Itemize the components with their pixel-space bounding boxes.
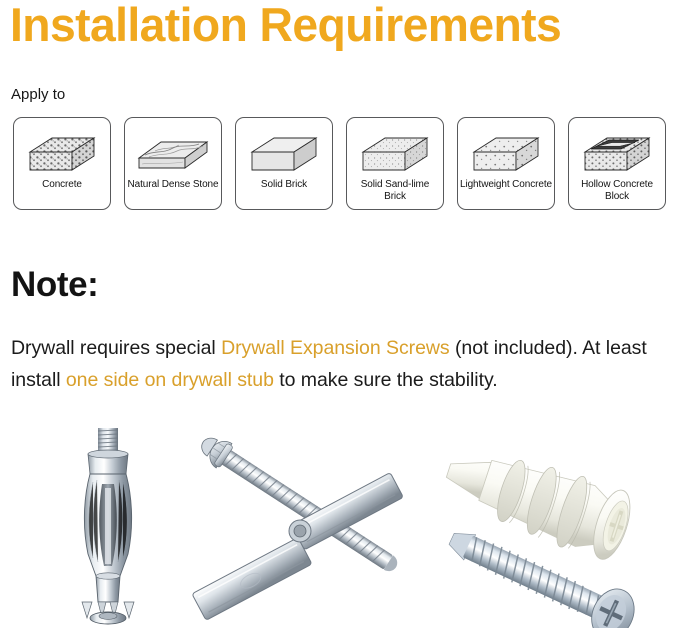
- flat-stone-slab-icon: [133, 126, 213, 178]
- smooth-block-icon: [244, 126, 324, 178]
- material-card-solid-brick: Solid Brick: [235, 117, 333, 210]
- apply-to-label: Apply to: [11, 86, 65, 103]
- note-body: Drywall requires special Drywall Expansi…: [11, 332, 669, 396]
- material-label: Concrete: [40, 178, 84, 191]
- material-card-solid-sand-lime-brick: Solid Sand-lime Brick: [346, 117, 444, 210]
- material-card-lightweight-concrete: Lightweight Concrete: [457, 117, 555, 210]
- hollow-wall-anchor-image: [48, 426, 168, 628]
- material-label: Solid Sand-lime Brick: [347, 178, 443, 202]
- material-card-hollow-concrete-block: Hollow Concrete Block: [568, 117, 666, 210]
- porous-block-icon: [466, 126, 546, 178]
- material-card-concrete: Concrete: [13, 117, 111, 210]
- material-box-row: Concrete Natural Dense Stone Solid Brick: [13, 117, 668, 211]
- material-label: Lightweight Concrete: [458, 178, 554, 191]
- hardware-row: [0, 424, 679, 628]
- material-label: Natural Dense Stone: [126, 178, 221, 191]
- note-text-part1: Drywall requires special: [11, 337, 221, 359]
- hollow-core-block-icon: [577, 126, 657, 178]
- material-label: Solid Brick: [259, 178, 309, 191]
- note-heading: Note:: [11, 265, 98, 305]
- fine-speckled-block-icon: [355, 126, 435, 178]
- page-title: Installation Requirements: [10, 0, 665, 52]
- solid-block-speckled-icon: [22, 126, 102, 178]
- note-text-part3: to make sure the stability.: [274, 369, 498, 391]
- toggle-bolt-image: [188, 430, 418, 626]
- drywall-anchor-and-screw-image: [432, 426, 678, 628]
- note-highlight-one-side-on-drywall-stub: one side on drywall stub: [66, 369, 274, 391]
- material-label: Hollow Concrete Block: [569, 178, 665, 202]
- note-highlight-drywall-expansion-screws: Drywall Expansion Screws: [221, 337, 450, 359]
- material-card-natural-dense-stone: Natural Dense Stone: [124, 117, 222, 210]
